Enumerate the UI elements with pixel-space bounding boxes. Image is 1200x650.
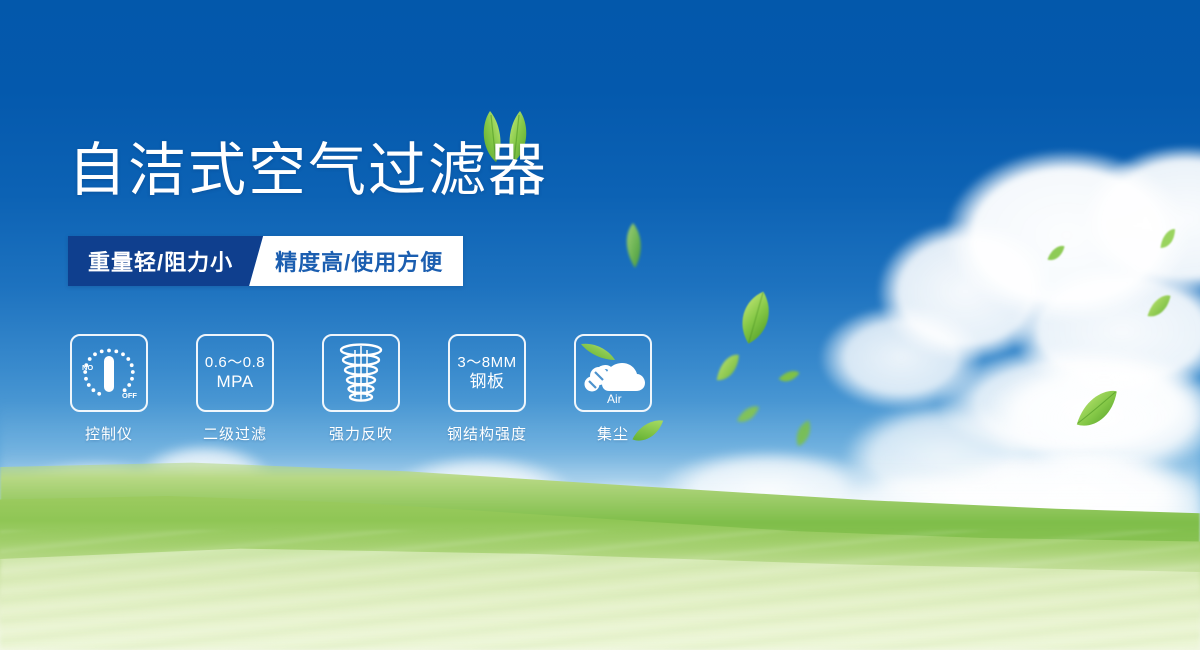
feature-label: 集尘 — [597, 423, 629, 444]
subtitle-left-panel: 重量轻/阻力小 — [68, 236, 263, 286]
feature-item-pulse-jet[interactable]: 强力反吹 — [322, 334, 400, 444]
feature-label: 钢结构强度 — [447, 423, 527, 444]
feature-icon-box: 3～8MM钢板 — [448, 334, 526, 412]
feature-item-controller[interactable]: NO OFF 控制仪 — [70, 334, 148, 444]
feature-icon-box: NO OFF — [70, 334, 148, 412]
steel-text-icon: 3～8MM钢板 — [457, 354, 516, 392]
feature-item-steel-strength[interactable]: 3～8MM钢板 钢结构强度 — [448, 334, 526, 444]
feature-icon-box: 0.6～0.8MPA — [196, 334, 274, 412]
product-banner: 自洁式空气过滤器 重量轻/阻力小 精度高/使用方便 N — [0, 0, 1200, 650]
air-cloud-icon: Air — [579, 340, 647, 406]
svg-text:Air: Air — [607, 392, 622, 406]
svg-text:NO: NO — [82, 363, 93, 372]
subtitle-right-panel: 精度高/使用方便 — [249, 236, 463, 286]
feature-label: 强力反吹 — [329, 423, 393, 444]
gauge-icon: NO OFF — [76, 340, 142, 406]
feature-label: 控制仪 — [85, 423, 133, 444]
filter-stack-icon — [332, 342, 390, 404]
page-title: 自洁式空气过滤器 — [68, 142, 548, 200]
feature-item-dust-collection[interactable]: Air 集尘 — [574, 334, 652, 444]
grass-texture-streaks — [0, 530, 1200, 650]
subtitle-bar: 重量轻/阻力小 精度高/使用方便 — [68, 236, 463, 286]
feature-icon-row: NO OFF 控制仪 0.6～0.8MPA 二级过滤 — [70, 334, 652, 444]
feature-item-two-stage-filter[interactable]: 0.6～0.8MPA 二级过滤 — [196, 334, 274, 444]
feature-icon-box — [322, 334, 400, 412]
feature-label: 二级过滤 — [203, 423, 267, 444]
feature-icon-box: Air — [574, 334, 652, 412]
svg-text:OFF: OFF — [122, 391, 137, 400]
pressure-text-icon: 0.6～0.8MPA — [205, 354, 265, 392]
